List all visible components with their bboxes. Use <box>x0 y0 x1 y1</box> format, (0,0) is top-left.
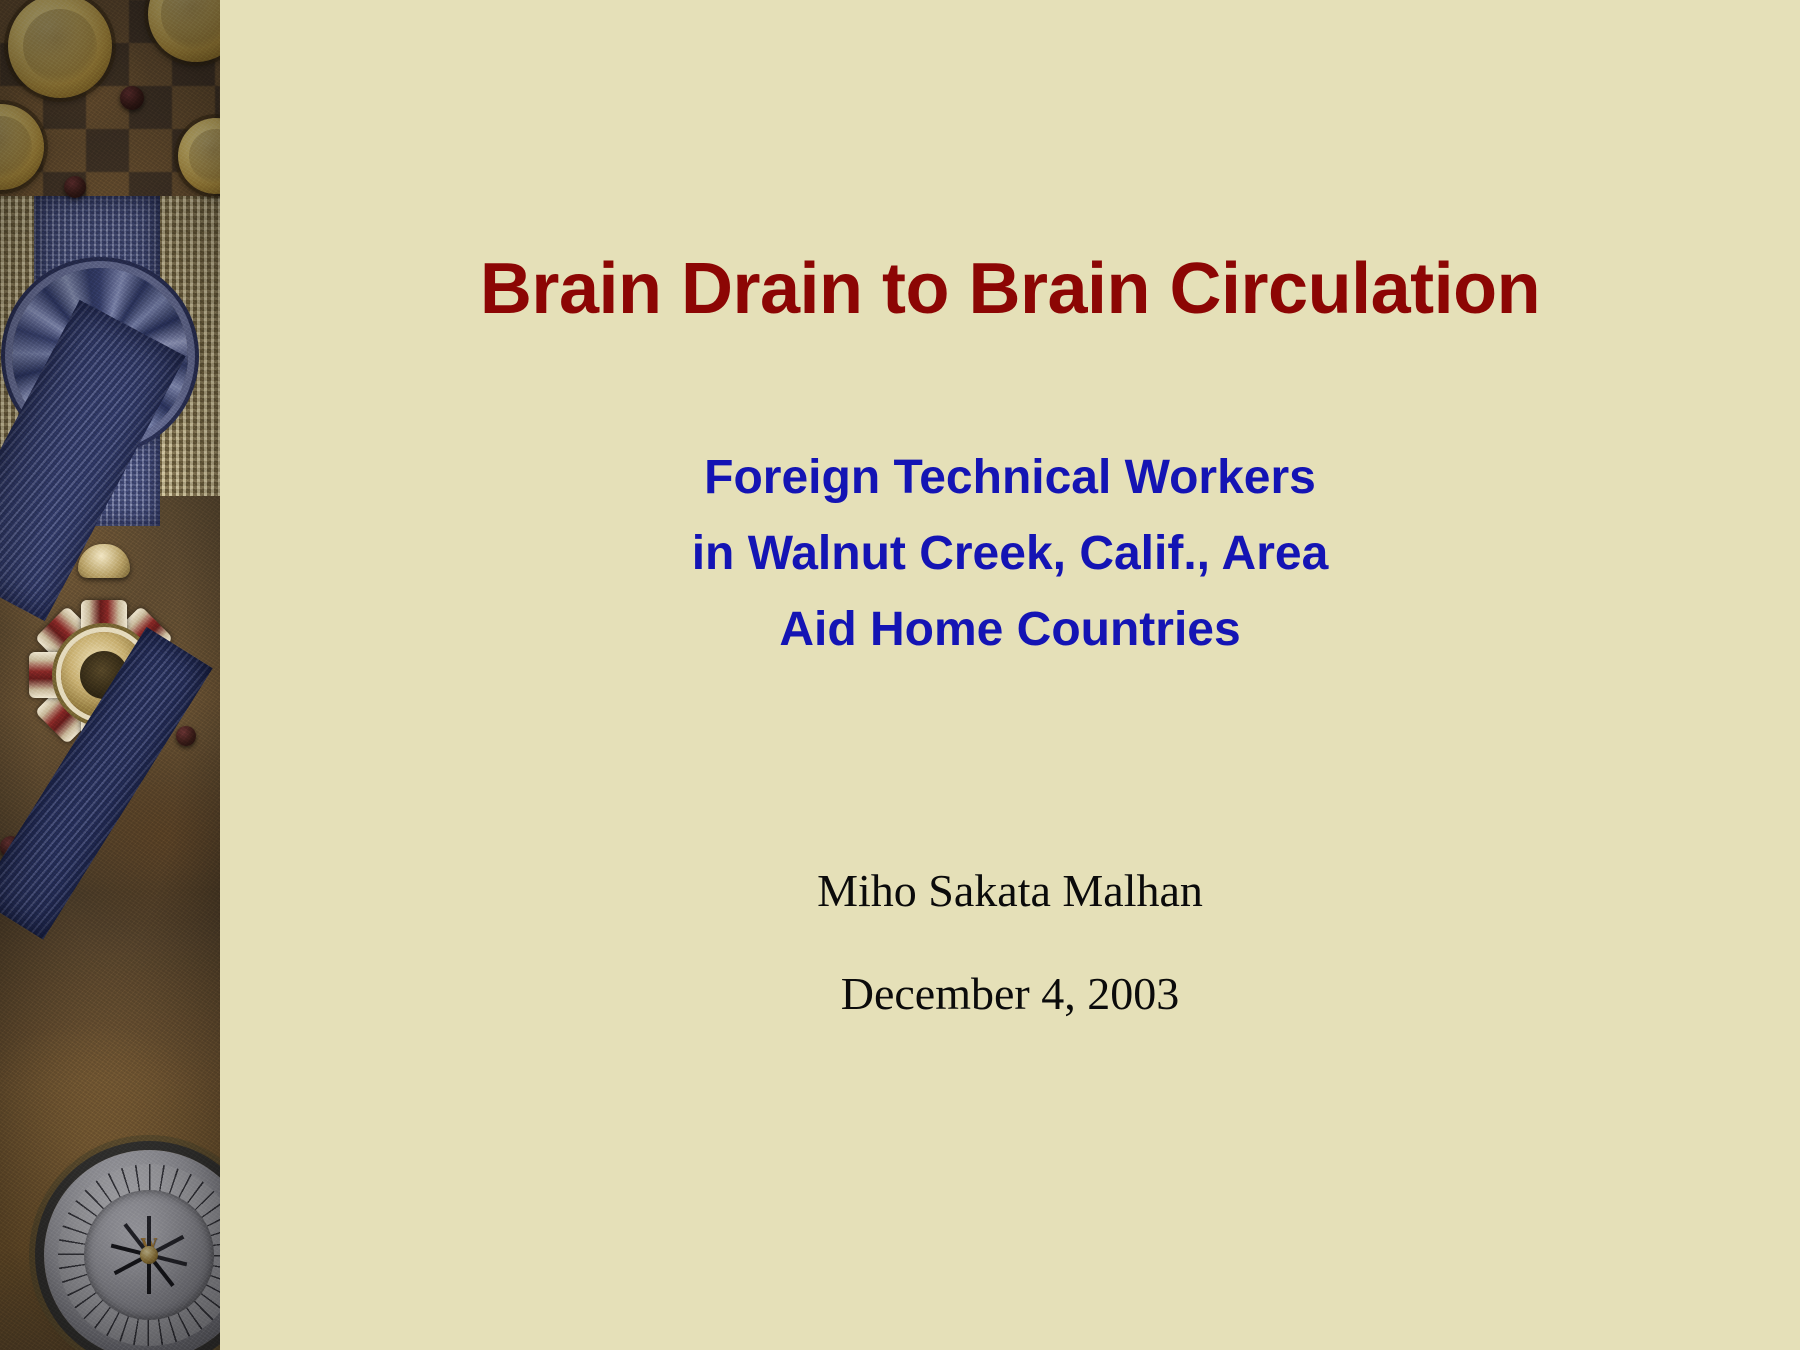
author-name: Miho Sakata Malhan <box>220 868 1800 914</box>
decorative-image-strip: W <box>0 0 220 1350</box>
subtitle-line-1: Foreign Technical Workers <box>220 440 1800 516</box>
presentation-slide: W Brain Drain to Brain Circulation Forei… <box>0 0 1800 1350</box>
slide-byline: Miho Sakata Malhan December 4, 2003 <box>220 868 1800 1017</box>
presentation-date: December 4, 2003 <box>220 971 1800 1017</box>
subtitle-line-2: in Walnut Creek, Calif., Area <box>220 516 1800 592</box>
slide-title: Brain Drain to Brain Circulation <box>220 251 1800 327</box>
slide-subtitle: Foreign Technical Workers in Walnut Cree… <box>220 440 1800 667</box>
slide-content: Brain Drain to Brain Circulation Foreign… <box>220 0 1800 1350</box>
photo-vignette-overlay <box>0 0 220 1350</box>
subtitle-line-3: Aid Home Countries <box>220 592 1800 668</box>
